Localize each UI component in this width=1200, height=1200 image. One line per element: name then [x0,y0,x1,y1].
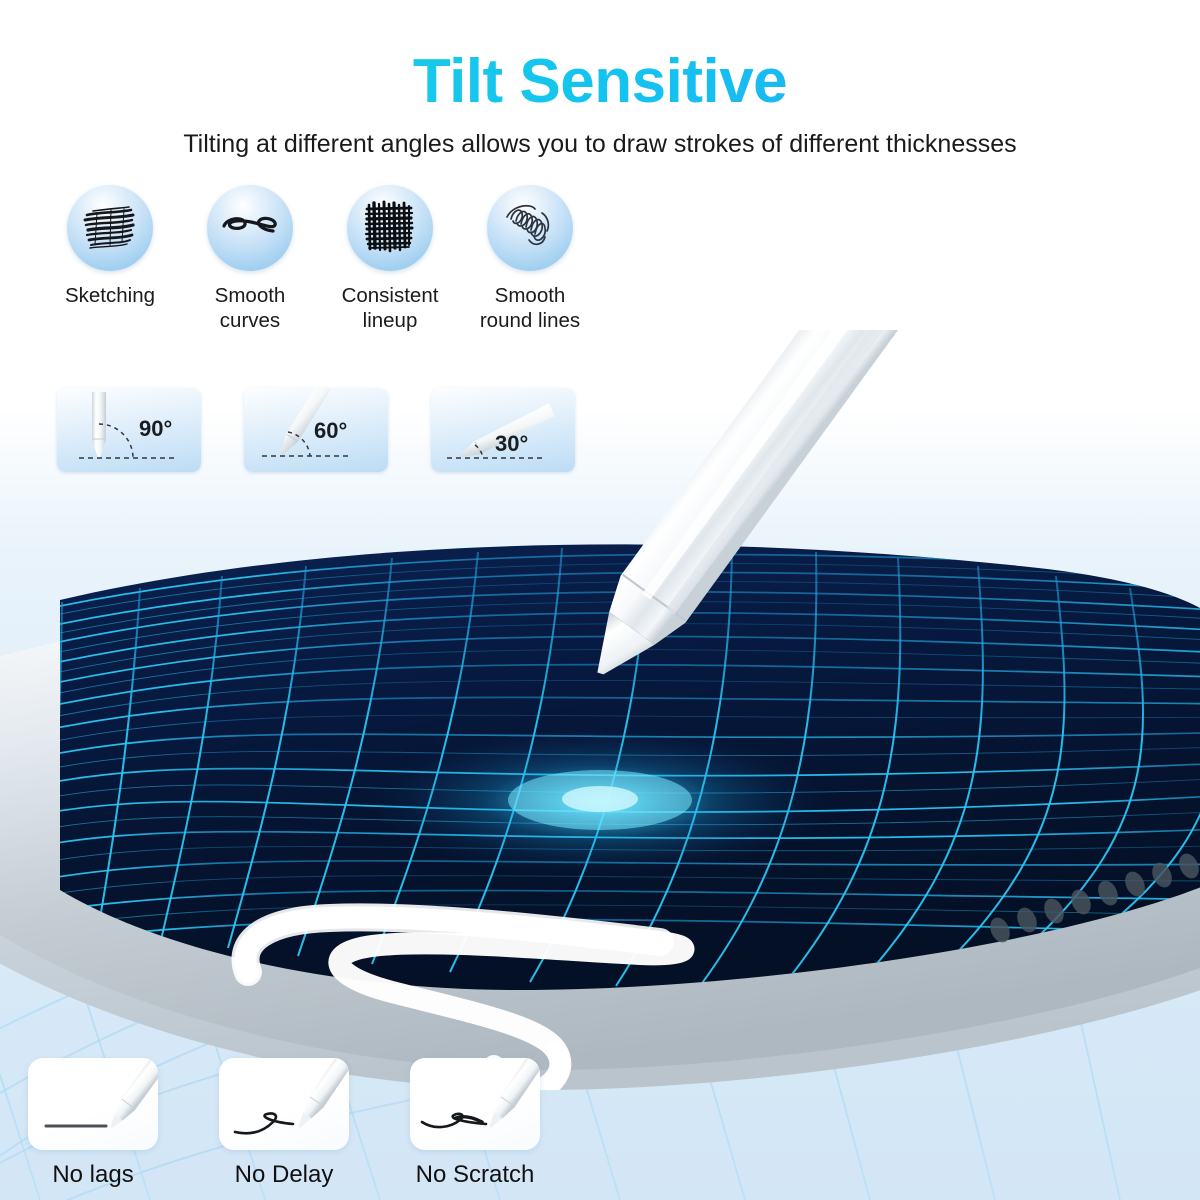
feature-circle-label: Smoothround lines [460,283,600,333]
feature-circle-label: Smoothcurves [180,283,320,333]
bottom-tile-no-delay: No Delay [219,1058,364,1189]
bottom-tile-label: No lags [28,1161,158,1189]
loop-curve-icon [207,185,293,271]
crosshatch-grid-icon [347,185,433,271]
stylus-scratch-stroke-icon [410,1058,540,1150]
bottom-tile-label: No Scratch [410,1161,540,1189]
bottom-tile-no-lags: No lags [28,1058,173,1189]
bottom-tile-label: No Delay [219,1161,349,1189]
bottom-tile-no-scratch: No Scratch [410,1058,555,1189]
hatched-strokes-icon [67,185,153,271]
feature-circle-label: Consistentlineup [320,283,460,333]
feature-circle-consistent-lineup: Consistentlineup [320,185,460,333]
feature-circle-label: Sketching [40,283,180,308]
stylus-curve-stroke-icon [219,1058,349,1150]
feature-circle-list: Sketching Smoothcurves [40,185,620,333]
coiled-squiggle-icon [487,185,573,271]
feature-circle-smooth-curves: Smoothcurves [180,185,320,333]
feature-circle-sketching: Sketching [40,185,180,333]
page-subtitle: Tilting at different angles allows you t… [0,130,1200,159]
stylus-straight-line-icon [28,1058,158,1150]
bottom-tile-list: No lags [28,1058,555,1189]
white-stylus [0,330,1200,850]
feature-circle-smooth-round-lines: Smoothround lines [460,185,600,333]
page-title: Tilt Sensitive [0,46,1200,117]
product-feature-graphic: Tilt Sensitive Tilting at different angl… [0,0,1200,1200]
